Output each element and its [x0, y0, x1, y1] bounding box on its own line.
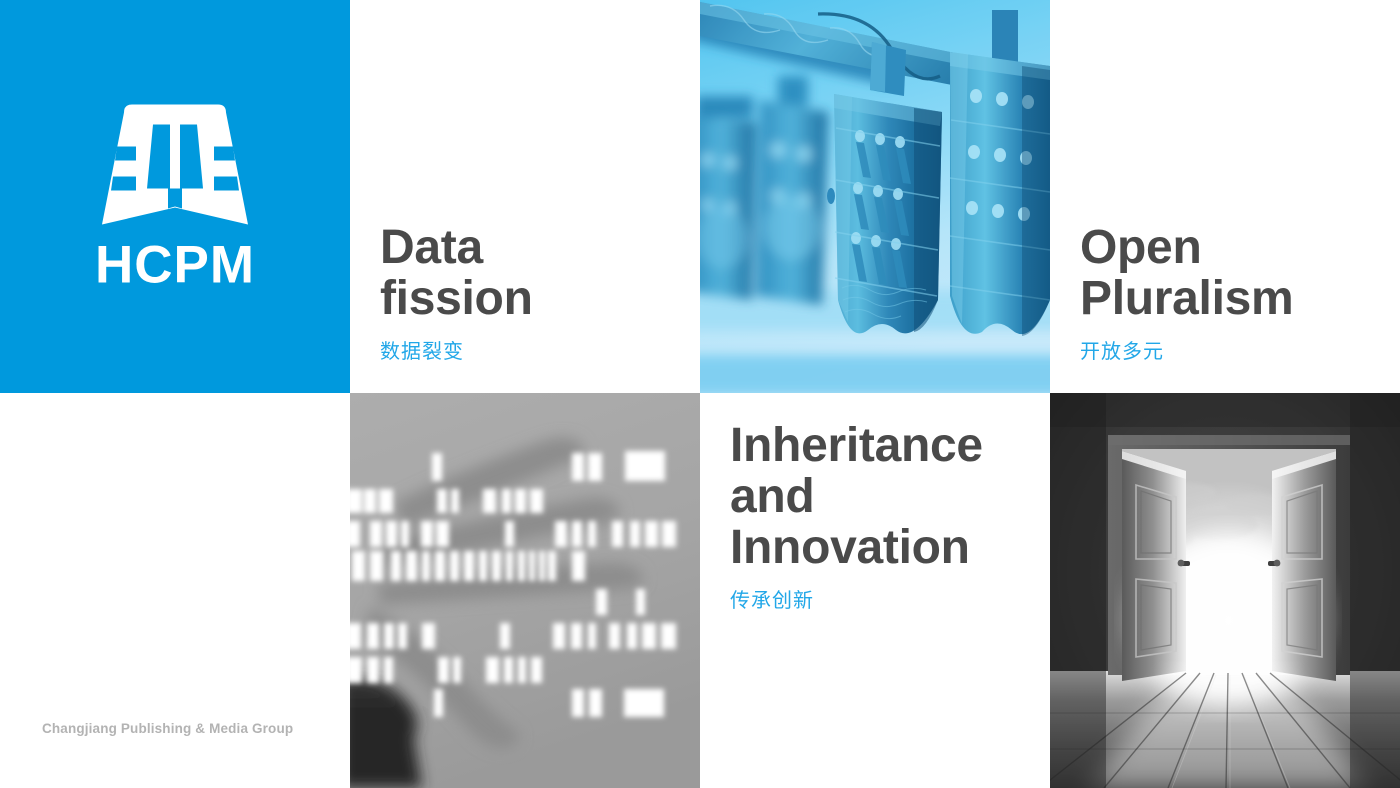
brand-wordmark: HCPM	[75, 238, 275, 291]
card-data-fission: Data fission 数据裂变	[350, 0, 700, 393]
logo-lockup: HCPM	[75, 102, 275, 291]
brand-logo-panel: HCPM	[0, 0, 350, 393]
brand-poster-grid: HCPM Data fission 数据裂变	[0, 0, 1400, 788]
bianzhong-bells-photo	[700, 0, 1050, 393]
image-bianzhong-bells	[700, 0, 1050, 393]
subline-open-pluralism: 开放多元	[1080, 339, 1382, 363]
open-doorway-light-photo	[1050, 393, 1400, 788]
image-dna-sequence	[350, 393, 700, 788]
company-footer-text: Changjiang Publishing & Media Group	[42, 721, 293, 736]
card-inheritance-innovation: Inheritance and Innovation 传承创新	[700, 393, 1050, 788]
hcpm-trapezoid-mark-icon	[100, 102, 250, 234]
subline-data-fission: 数据裂变	[380, 339, 682, 363]
card-open-pluralism: Open Pluralism 开放多元	[1050, 0, 1400, 393]
headline-inheritance-innovation: Inheritance and Innovation	[730, 421, 1032, 574]
subline-inheritance-innovation: 传承创新	[730, 588, 1032, 612]
dna-sequence-hand-photo	[350, 393, 700, 788]
headline-open-pluralism: Open Pluralism	[1080, 223, 1382, 325]
headline-data-fission: Data fission	[380, 223, 682, 325]
card-footer: Changjiang Publishing & Media Group	[0, 393, 350, 788]
image-open-doorway	[1050, 393, 1400, 788]
